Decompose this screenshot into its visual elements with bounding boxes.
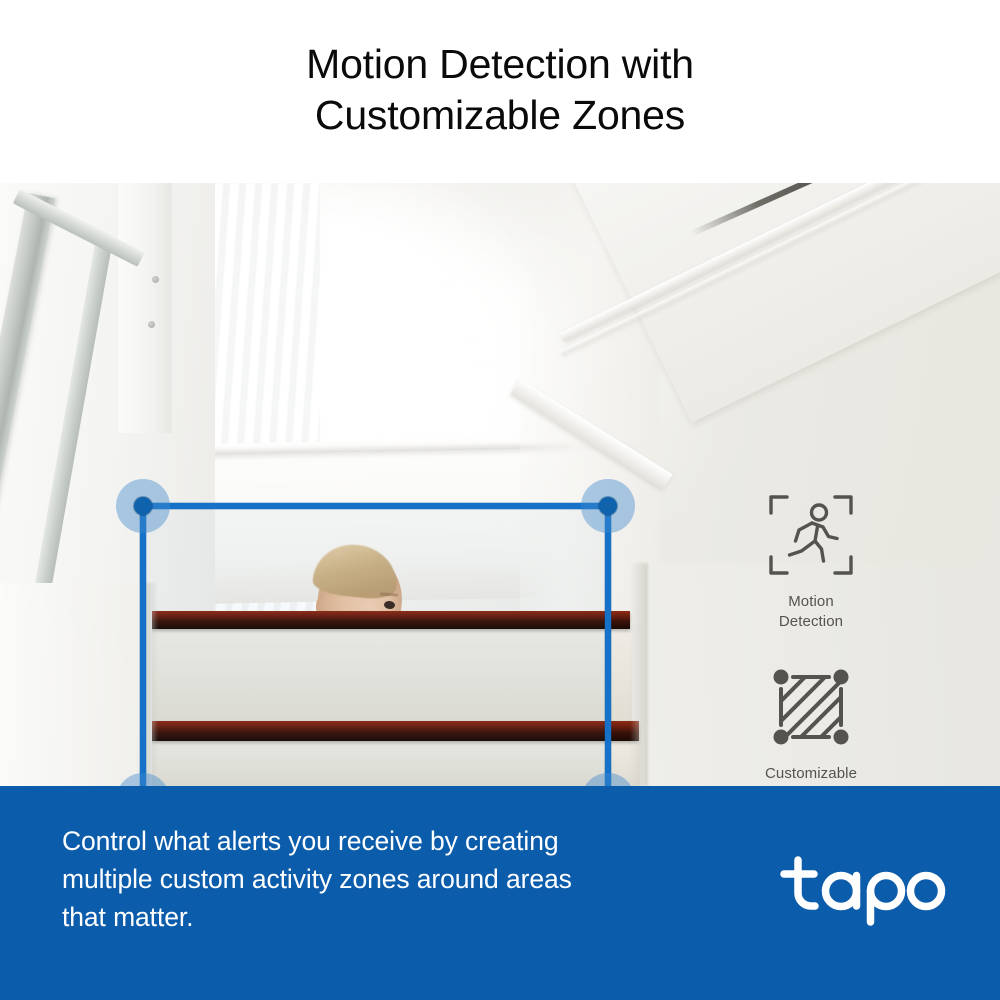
feature-customizable-zones-label: Customizable Activity Zones bbox=[764, 764, 859, 786]
zone-edge-left[interactable] bbox=[140, 506, 146, 786]
page-title: Motion Detection with Customizable Zones bbox=[306, 39, 694, 141]
footer-caption-line-3: that matter. bbox=[62, 898, 682, 936]
footer-caption: Control what alerts you receive by creat… bbox=[62, 822, 682, 936]
running-person-in-brackets-icon bbox=[765, 489, 857, 581]
stair-right-edge-shadow bbox=[630, 563, 648, 786]
footer-caption-line-2: multiple custom activity zones around ar… bbox=[62, 860, 682, 898]
zone-handle-top-right[interactable] bbox=[581, 479, 635, 533]
header-banner: Motion Detection with Customizable Zones bbox=[0, 0, 1000, 183]
feature-label-line-1: Motion bbox=[779, 592, 843, 612]
hatched-zone-square-icon bbox=[765, 661, 857, 753]
activity-zone-selection[interactable] bbox=[143, 506, 608, 786]
feature-customizable-zones: Customizable Activity Zones bbox=[716, 661, 906, 786]
feature-list: Motion Detection bbox=[716, 366, 906, 786]
feature-motion-detection: Motion Detection bbox=[716, 489, 906, 632]
footer-caption-line-1: Control what alerts you receive by creat… bbox=[62, 822, 682, 860]
feature-label-line-2: Detection bbox=[779, 612, 843, 632]
page-title-line-1: Motion Detection with bbox=[306, 39, 694, 90]
page-title-line-2: Customizable Zones bbox=[306, 90, 694, 141]
feature-label-line-1: Customizable bbox=[764, 764, 859, 784]
zone-edge-top[interactable] bbox=[143, 503, 608, 509]
footer-banner: Control what alerts you receive by creat… bbox=[0, 786, 1000, 1000]
zone-handle-top-left[interactable] bbox=[116, 479, 170, 533]
scene-photo: Motion Detection bbox=[0, 183, 1000, 786]
marketing-card: Motion Detection with Customizable Zones bbox=[0, 0, 1000, 1000]
feature-motion-detection-label: Motion Detection bbox=[779, 592, 843, 632]
zone-edge-right[interactable] bbox=[605, 506, 611, 786]
tapo-logo bbox=[778, 846, 948, 926]
activity-zone-fill bbox=[143, 506, 608, 786]
stair-left-wall bbox=[0, 583, 152, 786]
